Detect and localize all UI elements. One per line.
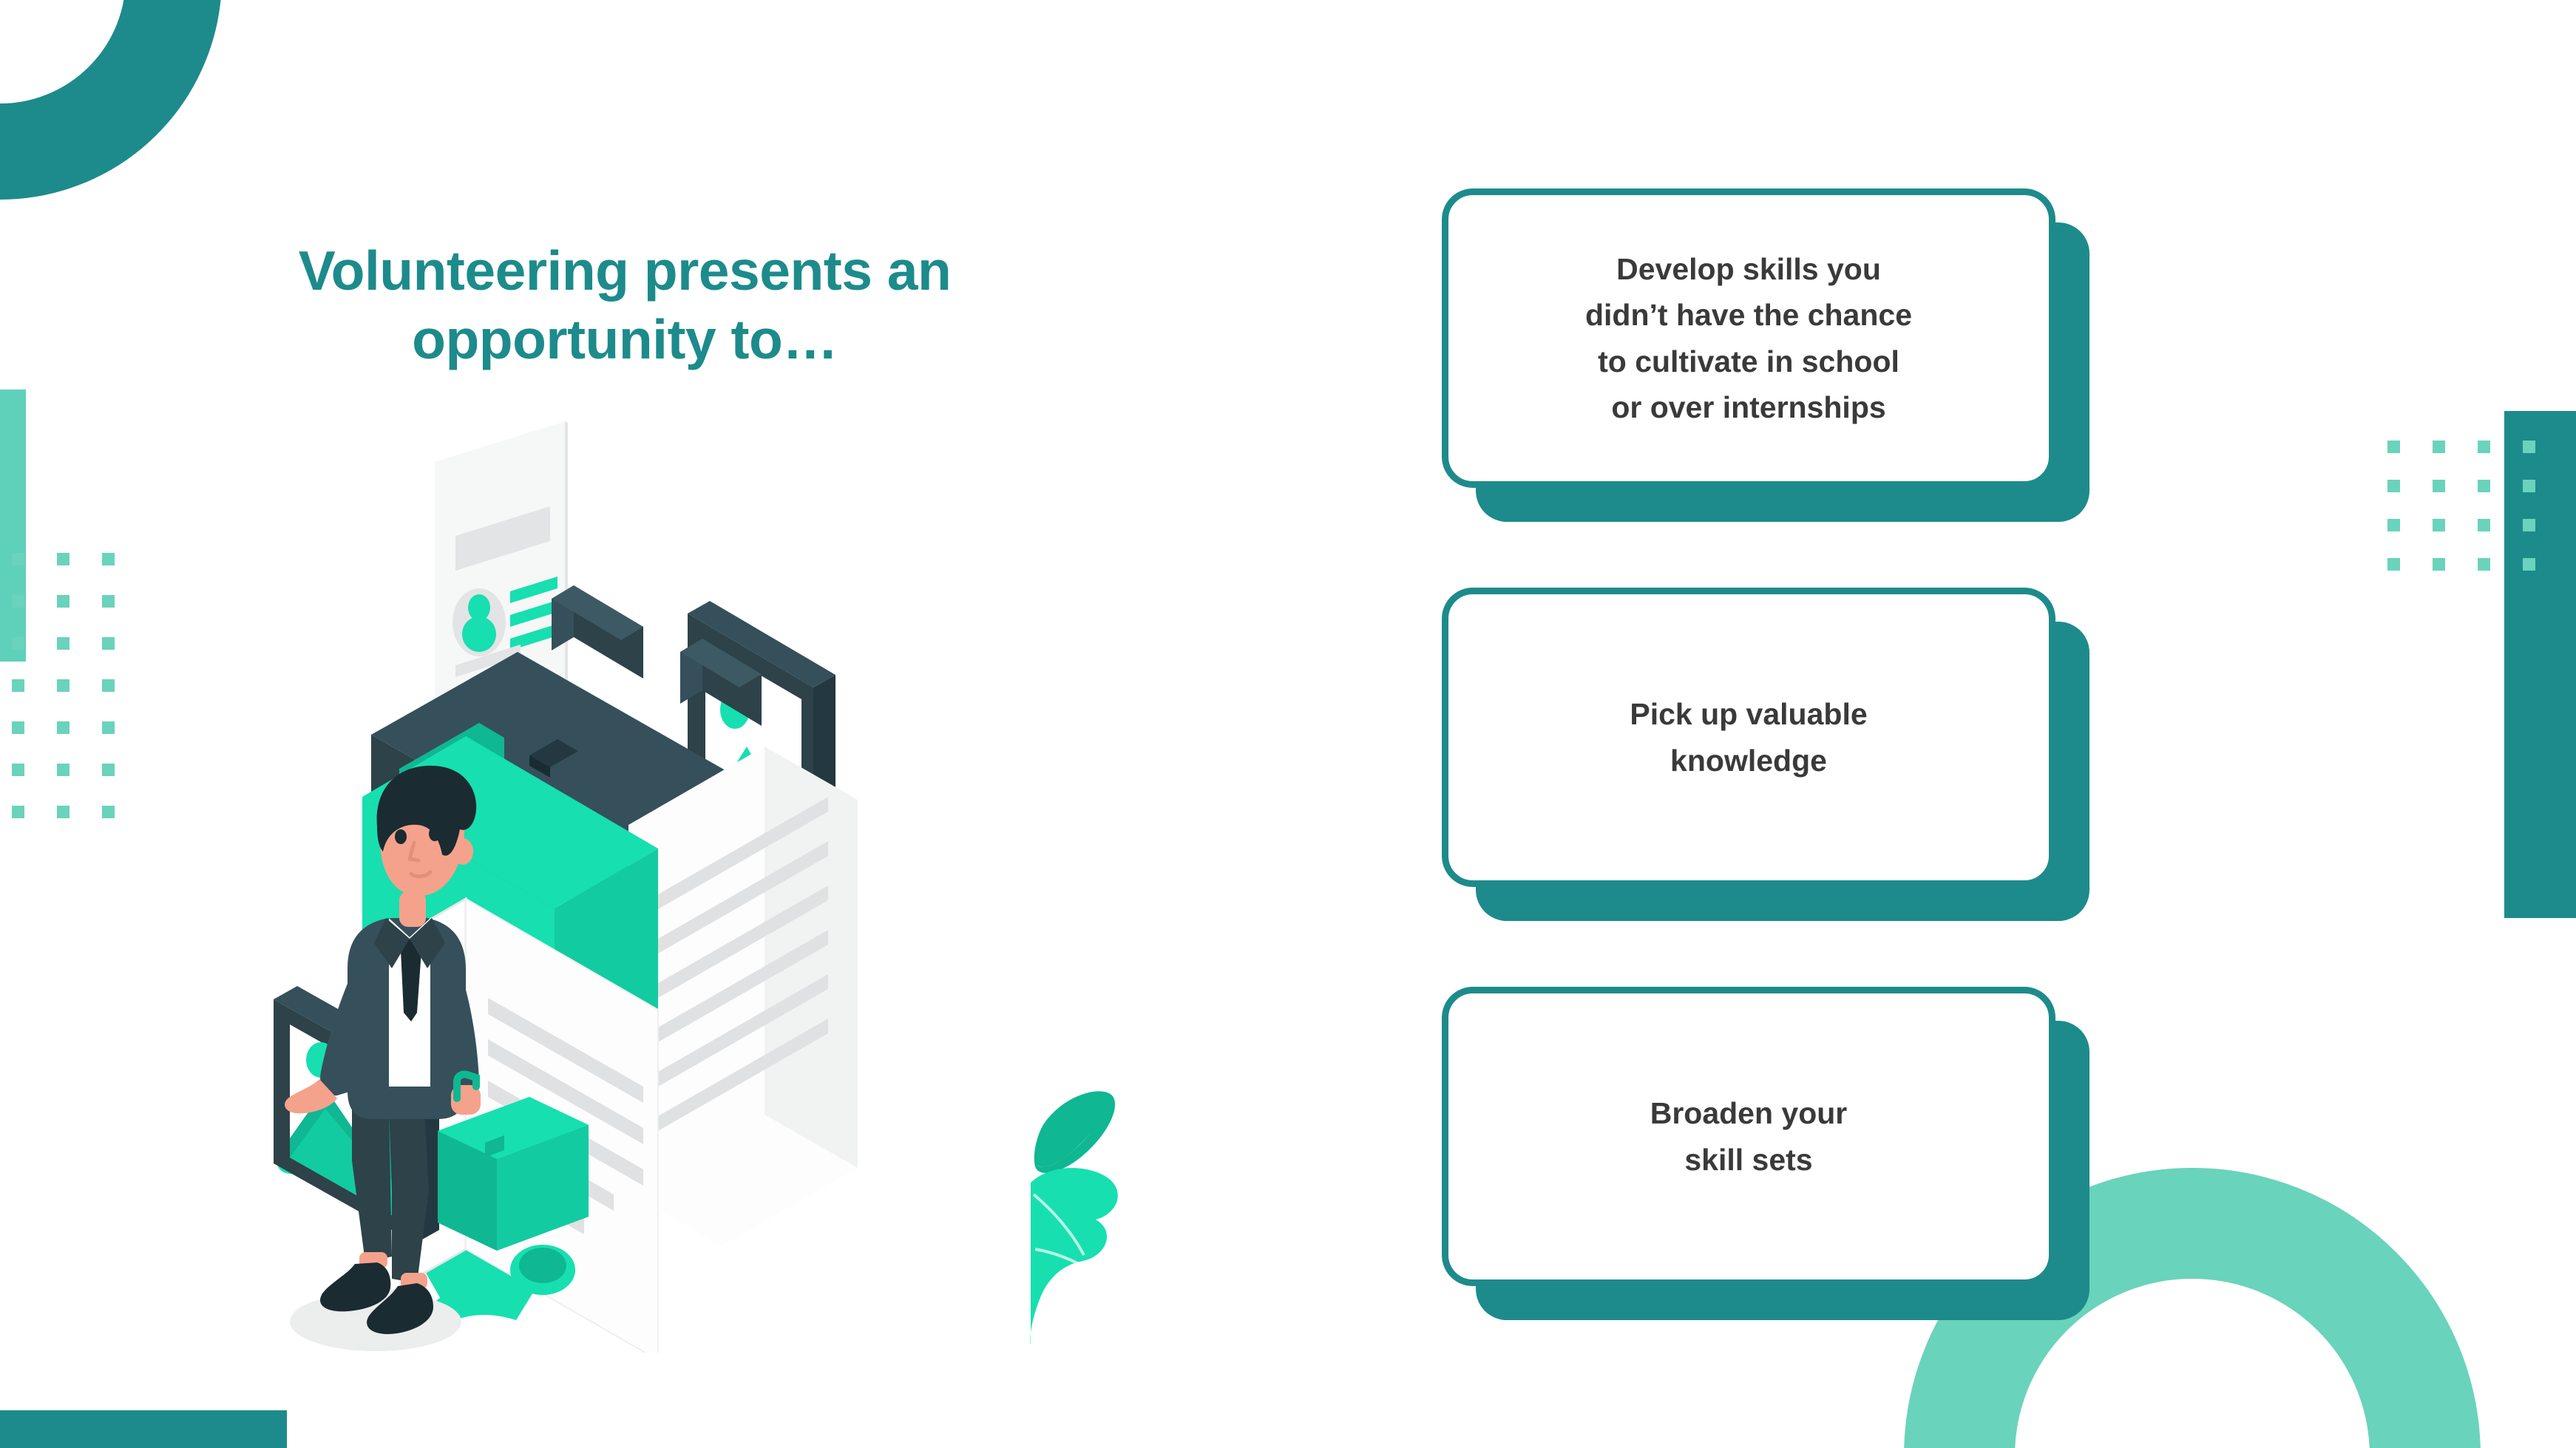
slide-root: Volunteering presents an opportunity to… (0, 0, 2576, 1448)
dot (2478, 441, 2490, 453)
dot (102, 679, 115, 692)
dot (2478, 480, 2490, 492)
card-surface[interactable]: Develop skills you didn’t have the chanc… (1442, 188, 2055, 488)
dot (12, 764, 24, 776)
document-sheets-icon (628, 747, 858, 1246)
plant-leaves-right-icon (1031, 1091, 1118, 1345)
dot (57, 595, 70, 608)
dot (57, 679, 70, 692)
dot (57, 553, 70, 565)
dot (102, 595, 115, 608)
card-surface[interactable]: Pick up valuable knowledge (1442, 588, 2055, 887)
dot (2387, 558, 2400, 571)
page-title: Volunteering presents an opportunity to… (244, 237, 1006, 374)
dot (12, 637, 24, 650)
dot (102, 553, 115, 565)
dot (57, 806, 70, 818)
dot (102, 637, 115, 650)
dot (2387, 519, 2400, 531)
dot (2433, 480, 2445, 492)
teal-bar-bottom-left (0, 1410, 287, 1448)
dot (102, 806, 115, 818)
card-surface[interactable]: Broaden your skill sets (1442, 987, 2055, 1286)
dot (102, 764, 115, 776)
dot (102, 721, 115, 734)
card-text: Develop skills you didn’t have the chanc… (1566, 246, 1931, 430)
dot (57, 637, 70, 650)
isometric-career-portfolio-illustration (244, 421, 1161, 1353)
dot (2523, 480, 2535, 492)
dot (2433, 519, 2445, 531)
dot (2433, 441, 2445, 453)
page-title-text: Volunteering presents an opportunity to… (244, 237, 1006, 374)
dot (12, 553, 24, 565)
dot (12, 721, 24, 734)
dot-grid-left (12, 553, 115, 818)
dot (2387, 441, 2400, 453)
dot (12, 806, 24, 818)
dot (57, 764, 70, 776)
dot (2387, 480, 2400, 492)
dot (2433, 558, 2445, 571)
dot (2478, 558, 2490, 571)
dot (2523, 558, 2535, 571)
card-text: Pick up valuable knowledge (1610, 691, 1886, 784)
dot (2523, 441, 2535, 453)
dot (12, 595, 24, 608)
dot (2478, 519, 2490, 531)
card-text: Broaden your skill sets (1631, 1090, 1867, 1183)
dot (12, 679, 24, 692)
teal-ring-top-left-icon (0, 0, 222, 200)
dot (57, 721, 70, 734)
dot-grid-right (2387, 441, 2535, 571)
dot (2523, 519, 2535, 531)
